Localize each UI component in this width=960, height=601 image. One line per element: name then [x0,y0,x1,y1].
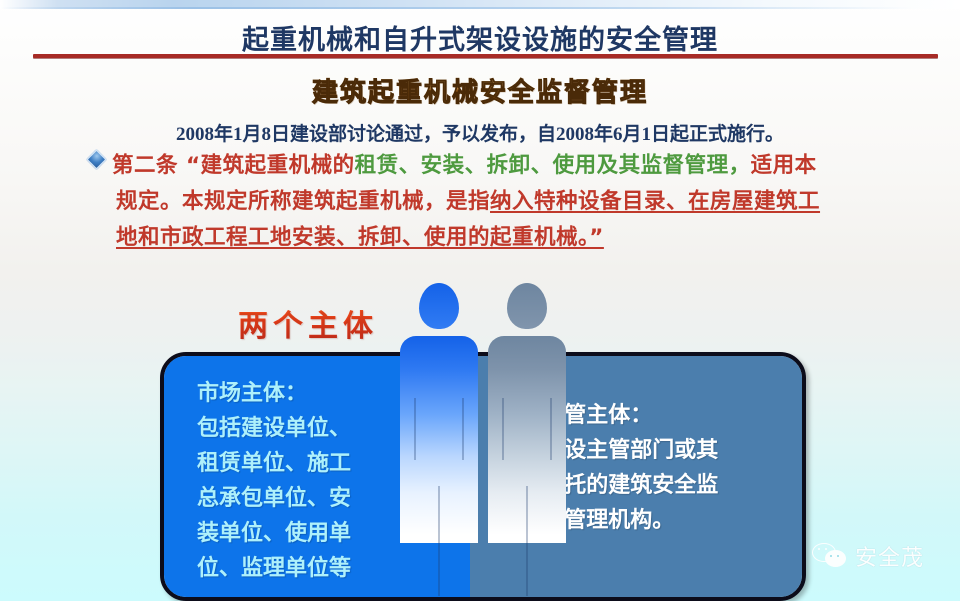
panel-left-line-5: 位、监理单位等 [197,551,351,586]
article-line-1: 第二条 “建筑起重机械的租赁、安装、拆卸、使用及其监督管理，适用本 [112,148,872,184]
person-arm-right-line [550,398,552,460]
person-body-shape [488,336,566,543]
panel-right-line-2: 委托的建筑安全监 [542,468,718,503]
panel-right-line-3: 督管理机构。 [542,503,718,538]
panel-right-line-1: 建设主管部门或其 [542,433,718,468]
article-text-block: 第二条 “建筑起重机械的租赁、安装、拆卸、使用及其监督管理，适用本 规定。本规定… [112,148,872,256]
title-divider-rule [33,54,938,58]
intro-paragraph: 2008年1月8日建设部讨论通过，予以发布，自2008年6月1日起正式施行。 [0,119,960,146]
panel-market-subject-text: 市场主体： 包括建设单位、 租赁单位、施工 总承包单位、安 装单位、使用单 位、… [197,376,351,586]
person-body-shape [400,336,478,543]
person-pictogram-gray-icon [488,283,566,543]
person-arm-left-line [414,398,416,460]
article-line-1-red-b: 适用本 [751,153,817,178]
panel-left-line-1: 包括建设单位、 [197,411,351,446]
people-pictogram-group [400,283,568,543]
watermark: 安全茂 [812,540,924,572]
article-line-2: 规定。本规定所称建筑起重机械，是指纳入特种设备目录、在房屋建筑工 [112,184,872,220]
panel-left-line-0: 市场主体： [197,376,351,411]
subtitle-heading: 建筑起重机械安全监督管理 [0,72,960,109]
article-line-2-plain: 规定。本规定所称建筑起重机械，是指 [116,189,490,214]
wechat-bubble-small [825,550,846,567]
section-heading-two-subjects: 两个主体 [238,301,378,345]
panel-left-line-2: 租赁单位、施工 [197,446,351,481]
article-line-1-red-a: 第二条 “建筑起重机械的 [112,153,355,178]
person-arm-left-line [502,398,504,460]
panel-left-line-3: 总承包单位、安 [197,481,351,516]
panel-regulatory-subject-text: 监管主体： 建设主管部门或其 委托的建筑安全监 督管理机构。 [542,398,718,538]
article-line-2-underlined: 纳入特种设备目录、在房屋建筑工 [490,189,820,214]
page-title: 起重机械和自升式架设设施的安全管理 [0,18,960,57]
person-arm-right-line [462,398,464,460]
article-line-1-green: 租赁、安装、拆卸、使用及其监督管理， [355,153,751,178]
watermark-label: 安全茂 [855,540,924,572]
top-decorative-bar [0,0,960,9]
person-pictogram-blue-icon [400,283,478,543]
person-leg-split-line [438,486,440,596]
article-line-3-underlined: 地和市政工程工地安装、拆卸、使用的起重机械。” [116,225,604,250]
wechat-icon [812,543,846,569]
panel-left-line-4: 装单位、使用单 [197,516,351,551]
person-leg-split-line [526,486,528,596]
person-head-shape [507,283,547,329]
article-line-3: 地和市政工程工地安装、拆卸、使用的起重机械。” [112,220,872,256]
person-head-shape [419,283,459,329]
panel-right-line-0: 监管主体： [542,398,718,433]
slide-canvas: 起重机械和自升式架设设施的安全管理 建筑起重机械安全监督管理 2008年1月8日… [0,0,960,601]
diamond-bullet-icon [86,149,107,170]
